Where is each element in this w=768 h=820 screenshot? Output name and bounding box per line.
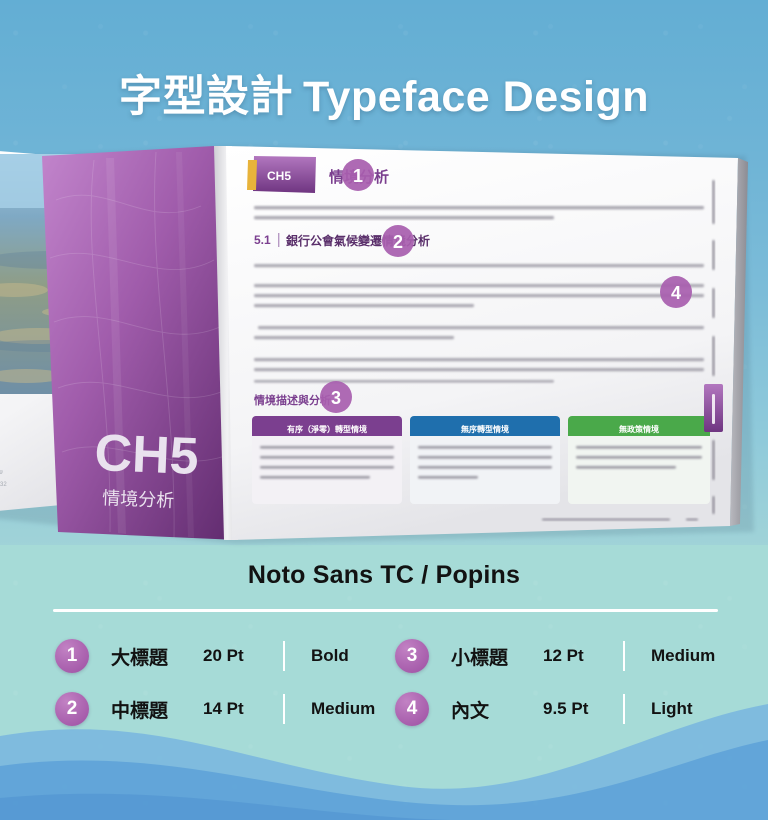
legend-badge-3: 3 xyxy=(395,639,429,673)
marker-4-label: 4 xyxy=(671,283,681,303)
legend-weight-4: Light xyxy=(651,699,693,719)
marker-2-label: 2 xyxy=(393,232,403,252)
section-number: 5.1 xyxy=(254,233,271,247)
poster-canvas: 字型設計Typeface Design xyxy=(0,0,768,820)
legend-row: 3 小標題 12 Pt Medium xyxy=(395,630,725,682)
legend-row: 1 大標題 20 Pt Bold xyxy=(55,630,385,682)
legend-separator xyxy=(623,641,625,671)
legend-badge-4: 4 xyxy=(395,692,429,726)
marker-3-label: 3 xyxy=(331,388,341,408)
section-divider xyxy=(53,609,718,612)
chapter-code-left: CH5 xyxy=(94,424,200,486)
legend-size-1: 20 Pt xyxy=(203,646,281,666)
page-title: 字型設計Typeface Design xyxy=(0,62,768,124)
brochure-mockup-image: 27 29 32 CH5 情境分析 xyxy=(0,140,768,550)
brochure-chapter-divider-page: CH5 情境分析 xyxy=(42,146,238,540)
legend-badge-1: 1 xyxy=(55,639,89,673)
legend-label-4: 內文 xyxy=(451,696,543,723)
scenario-card-2-title: 無序轉型情境 xyxy=(461,424,509,434)
legend-badge-2: 2 xyxy=(55,692,89,726)
page-title-en: Typeface Design xyxy=(303,73,649,121)
legend-size-4: 9.5 Pt xyxy=(543,699,621,719)
chapter-title-left: 情境分析 xyxy=(102,488,175,512)
brochure-right-content-page: CH5 情境分析 1 5.1 銀行公會氣候變遷情境分析 2 xyxy=(226,146,748,540)
scenario-card-2: 無序轉型情境 xyxy=(410,416,560,504)
chapter-tag-right: CH5 xyxy=(267,169,291,183)
legend-separator xyxy=(283,694,285,724)
legend-separator xyxy=(283,641,285,671)
scenario-card-1: 有序（淨零）轉型情境 xyxy=(252,416,402,504)
legend-label-3: 小標題 xyxy=(451,643,543,670)
legend-row: 2 中標題 14 Pt Medium xyxy=(55,683,385,735)
legend-weight-3: Medium xyxy=(651,646,715,666)
legend-row: 4 內文 9.5 Pt Light xyxy=(395,683,725,735)
legend-column-right: 3 小標題 12 Pt Medium 4 內文 9.5 Pt Light xyxy=(395,630,725,740)
scenario-card-3-title: 無政策情境 xyxy=(619,424,659,434)
legend-weight-1: Bold xyxy=(311,646,349,666)
legend-weight-2: Medium xyxy=(311,699,375,719)
legend-label-1: 大標題 xyxy=(111,643,203,670)
scenario-section-heading: 情境描述與分析 xyxy=(254,393,331,407)
svg-text:32: 32 xyxy=(0,482,7,488)
legend-separator xyxy=(623,694,625,724)
legend-label-2: 中標題 xyxy=(111,696,203,723)
marker-1-label: 1 xyxy=(353,166,363,186)
legend-column-left: 1 大標題 20 Pt Bold 2 中標題 14 Pt Medium xyxy=(55,630,385,740)
legend-size-2: 14 Pt xyxy=(203,699,281,719)
scenario-card-1-title: 有序（淨零）轉型情境 xyxy=(287,424,367,434)
legend-size-3: 12 Pt xyxy=(543,646,621,666)
scenario-card-3: 無政策情境 xyxy=(568,416,710,504)
typography-legend: 1 大標題 20 Pt Bold 2 中標題 14 Pt Medium 3 小標… xyxy=(0,630,768,740)
page-title-zh: 字型設計 xyxy=(119,73,293,121)
typeface-name: Noto Sans TC / Popins xyxy=(0,561,768,590)
